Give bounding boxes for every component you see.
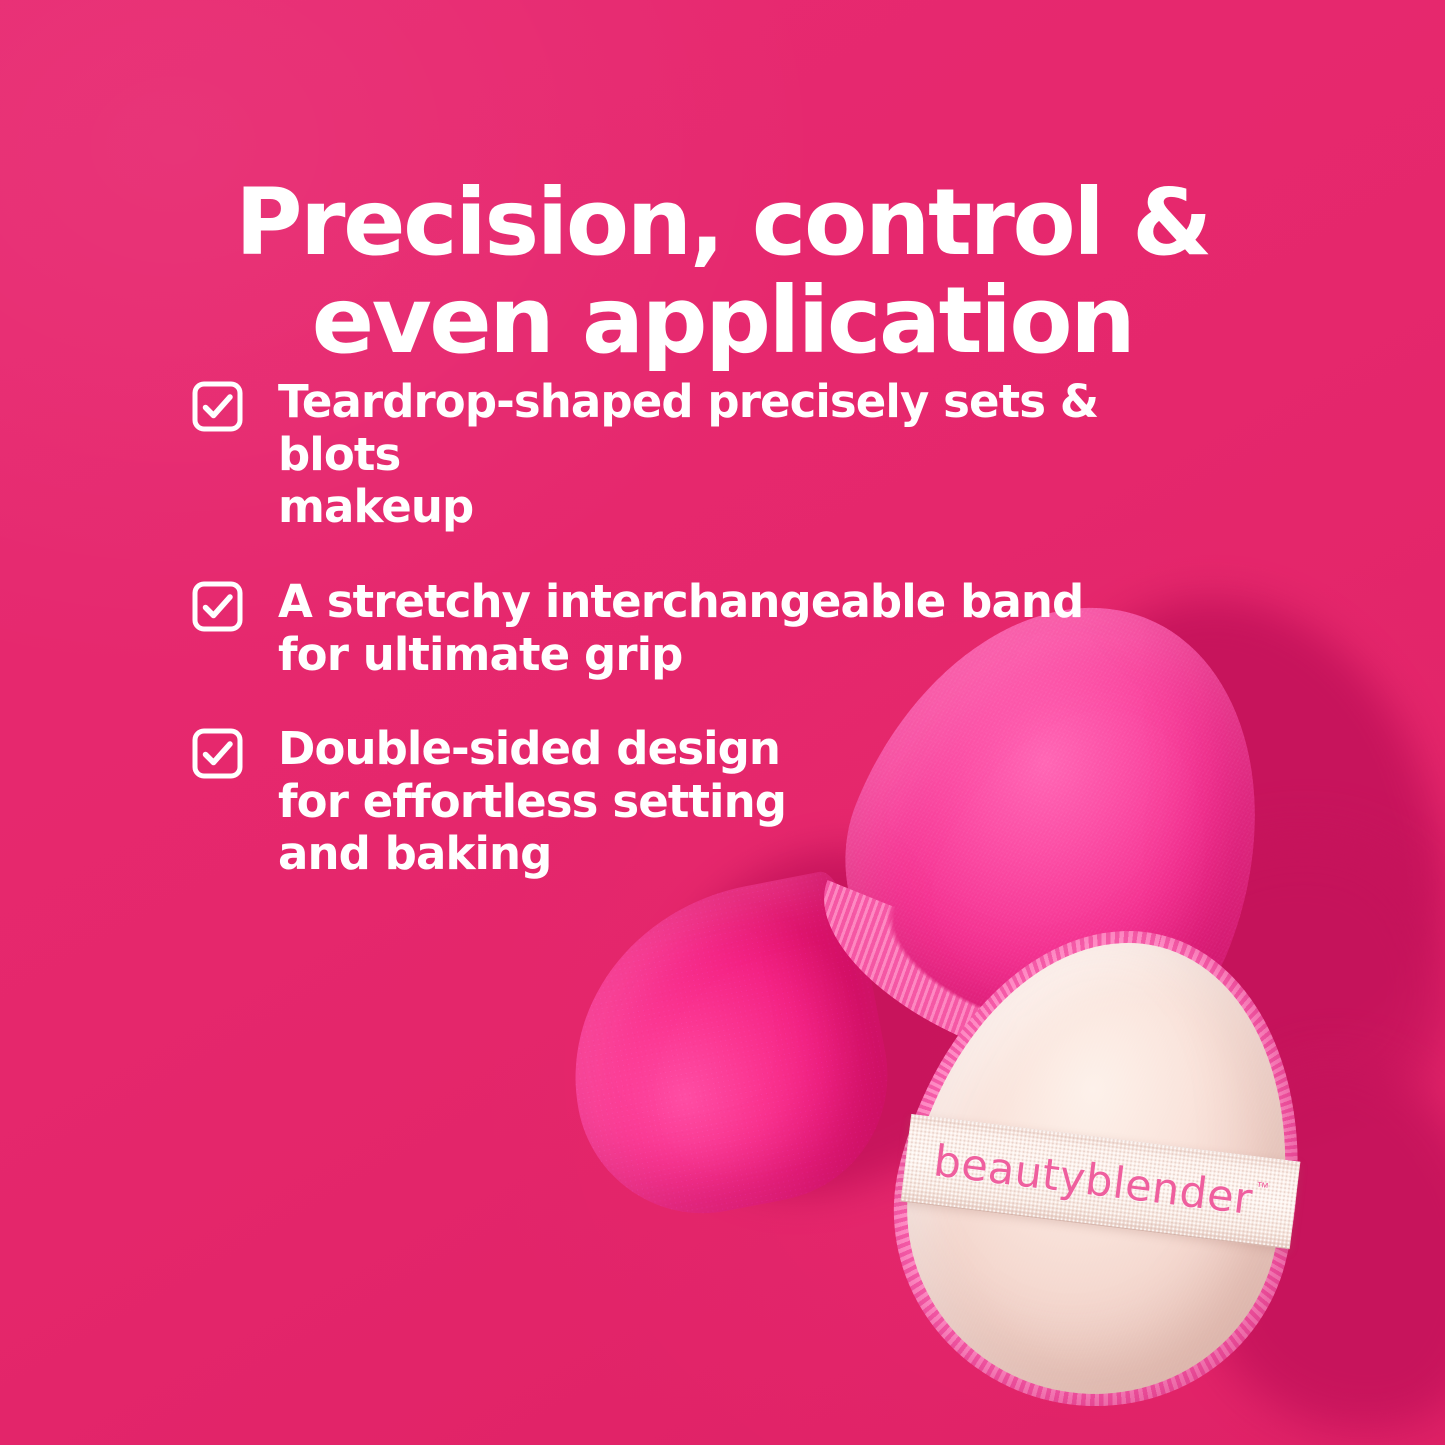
headline-line-1: Precision, control & — [235, 169, 1210, 276]
feature-text: A stretchy interchangeable band for ulti… — [278, 576, 1083, 681]
checkbox-checked-icon — [192, 728, 243, 779]
marketing-copy: Precision, control &even application Tea… — [0, 0, 1445, 1445]
list-item: A stretchy interchangeable band for ulti… — [192, 576, 1202, 681]
page-title: Precision, control &even application — [0, 174, 1445, 371]
feature-text: Teardrop-shaped precisely sets & blots m… — [278, 376, 1202, 534]
feature-text: Double-sided design for effortless setti… — [278, 723, 786, 881]
list-item: Teardrop-shaped precisely sets & blots m… — [192, 376, 1202, 534]
product-feature-banner: beautyblender ™ Precision, control &even… — [0, 0, 1445, 1445]
headline-line-2: even application — [312, 267, 1134, 374]
checkbox-checked-icon — [192, 381, 243, 432]
checkbox-checked-icon — [192, 581, 243, 632]
list-item: Double-sided design for effortless setti… — [192, 723, 1202, 881]
feature-list: Teardrop-shaped precisely sets & blots m… — [192, 376, 1202, 881]
